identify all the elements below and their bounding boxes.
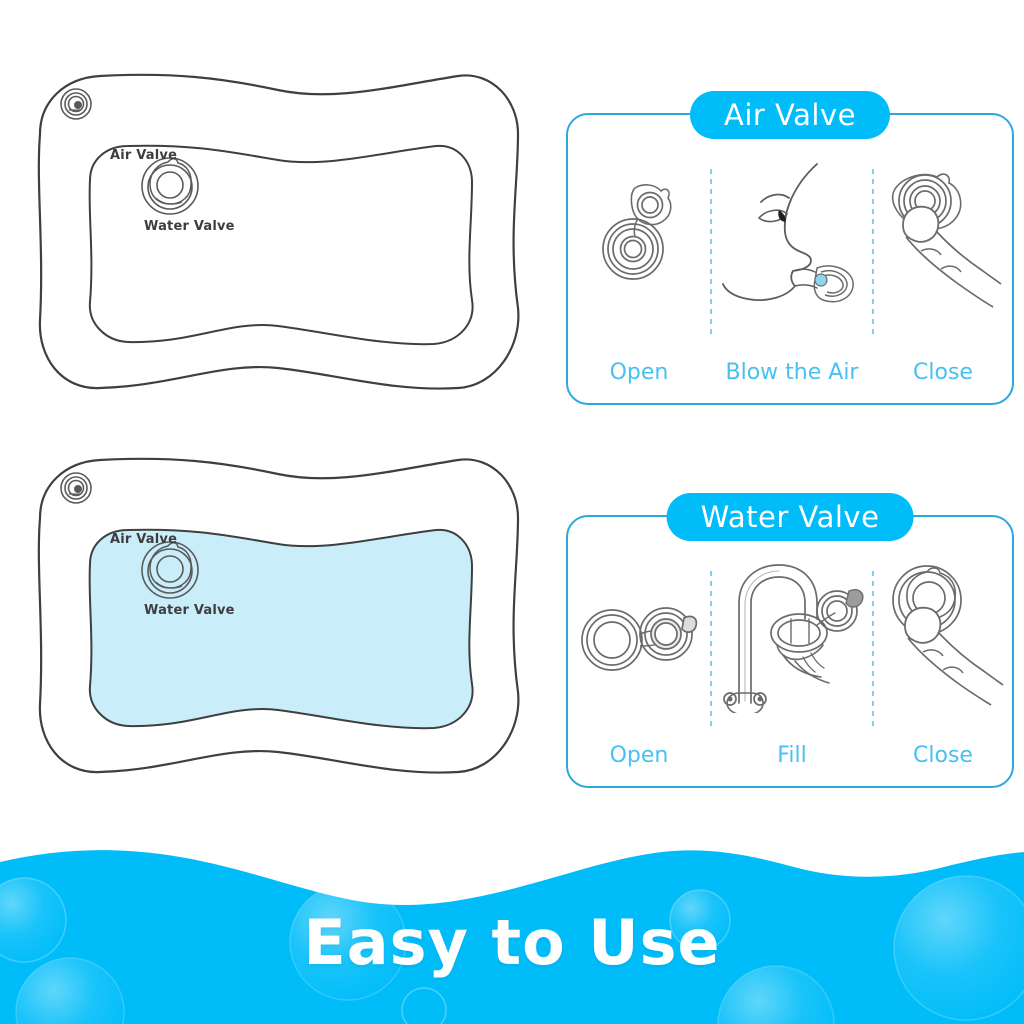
air-step-open: Open xyxy=(568,147,710,403)
water-step-close: Close xyxy=(874,549,1012,786)
air-valve-panel: Air Valve xyxy=(566,113,1014,405)
mat-water-valve-label: Water Valve xyxy=(144,603,235,618)
water-valve-panel-body: Open xyxy=(568,549,1012,786)
finger-press-water-valve-icon xyxy=(874,555,1012,715)
water-step-open: Open xyxy=(568,549,710,786)
water-valve-panel: Water Valve xyxy=(566,515,1014,788)
face-blowing-icon xyxy=(712,153,872,323)
infographic-root: Air Valve Water Valve Air Valve Wate xyxy=(0,0,1024,1024)
water-valve-panel-badge: Water Valve xyxy=(667,493,914,541)
air-step-close-caption: Close xyxy=(874,360,1012,385)
mat-air-valve-label: Air Valve xyxy=(110,532,177,547)
air-step-blow: Blow the Air xyxy=(712,147,872,403)
mat-illustration-empty: Air Valve Water Valve xyxy=(22,56,534,406)
air-step-blow-caption: Blow the Air xyxy=(712,360,872,385)
air-valve-panel-badge: Air Valve xyxy=(690,91,890,139)
mat-inner-outline xyxy=(90,146,473,345)
water-step-open-caption: Open xyxy=(568,743,710,768)
air-valve-panel-body: Open xyxy=(568,147,1012,403)
water-step-fill-caption: Fill xyxy=(712,743,872,768)
water-valve-open-icon xyxy=(568,555,710,715)
air-valve-glyph xyxy=(61,473,91,503)
air-valve-glyph xyxy=(61,89,91,119)
valve-open-cap-icon xyxy=(568,153,710,323)
air-step-open-caption: Open xyxy=(568,360,710,385)
water-step-close-caption: Close xyxy=(874,743,1012,768)
mat-inner-water-fill xyxy=(90,530,473,729)
mat-air-valve-label: Air Valve xyxy=(110,148,177,163)
air-valve-panel-badge-label: Air Valve xyxy=(724,98,856,132)
finger-press-valve-icon xyxy=(874,153,1012,323)
mat-illustration-filled: Air Valve Water Valve xyxy=(22,440,534,790)
water-valve-panel-badge-label: Water Valve xyxy=(701,500,880,534)
banner-title: Easy to Use xyxy=(0,906,1024,979)
bottom-wave-banner: Easy to Use xyxy=(0,824,1024,1024)
mat-water-valve-label: Water Valve xyxy=(144,219,235,234)
air-step-close: Close xyxy=(874,147,1012,403)
faucet-fill-icon xyxy=(712,555,872,715)
water-step-fill: Fill xyxy=(712,549,872,786)
